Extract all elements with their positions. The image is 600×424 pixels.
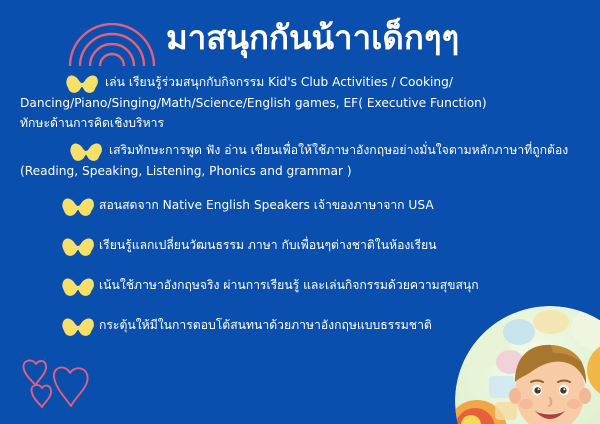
list-item-label: เสริมทักษะการพูด ฟัง อ่าน เขียนเพื่อให้ใ… [20, 140, 580, 181]
page-title: มาสนุกกันน้าาเด็กๆๆ [166, 18, 459, 58]
poster-canvas: มาสนุกกันน้าาเด็กๆๆ เล่น เรียนรู้ร่วมสนุ… [0, 0, 600, 424]
list-item: เล่น เรียนรู้ร่วมสนุกกับกิจกรรม Kid's Cl… [0, 72, 600, 134]
list-item: สอนสดจาก Native English Speakers เจ้าของ… [0, 195, 600, 219]
bowtie-blob-icon [61, 317, 95, 337]
list-item-label: สอนสดจาก Native English Speakers เจ้าของ… [99, 195, 434, 216]
list-item-label: เล่น เรียนรู้ร่วมสนุกกับกิจกรรม Kid's Cl… [20, 72, 580, 134]
list-item: เน้นใช้ภาษาอังกฤษจริง ผ่านการเรียนรู้ แล… [0, 275, 600, 299]
bowtie-blob-icon [61, 277, 95, 297]
header: มาสนุกกันน้าาเด็กๆๆ [0, 8, 600, 70]
list-item: เรียนรู้แลกเปลี่ยนวัฒนธรรม ภาษา กับเพื่อ… [0, 235, 600, 259]
list-item: เสริมทักษะการพูด ฟัง อ่าน เขียนเพื่อให้ใ… [0, 140, 600, 185]
bowtie-blob-icon [61, 197, 95, 217]
list-item-label: กระตุ้นให้มีในการตอบโต้สนทนาด้วยภาษาอังก… [99, 315, 432, 336]
bowtie-blob-icon [61, 237, 95, 257]
list-item-label: เรียนรู้แลกเปลี่ยนวัฒนธรรม ภาษา กับเพื่อ… [99, 235, 437, 256]
feature-list: เล่น เรียนรู้ร่วมสนุกกับกิจกรรม Kid's Cl… [0, 72, 600, 339]
list-item-label: เน้นใช้ภาษาอังกฤษจริง ผ่านการเรียนรู้ แล… [99, 275, 479, 296]
hearts-icon [18, 356, 104, 410]
